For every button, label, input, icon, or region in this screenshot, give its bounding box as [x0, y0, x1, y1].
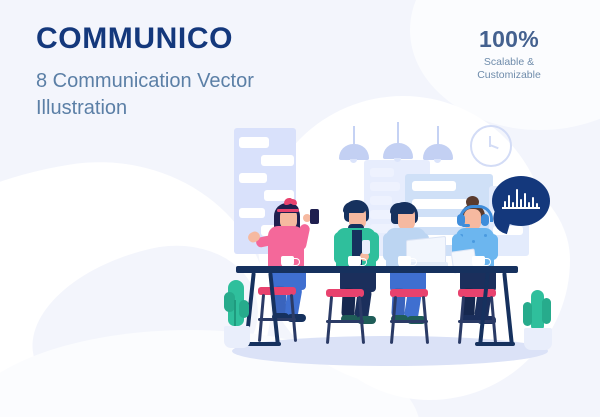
plant-pot-right — [524, 328, 552, 350]
table-top — [236, 266, 518, 273]
plant-pot-left — [224, 326, 250, 348]
voice-waveform-bubble — [492, 176, 550, 226]
wall-clock-icon — [470, 125, 512, 167]
smartphone — [310, 209, 319, 224]
illustration-canvas: COMMUNICO 8 Communication Vector Illustr… — [0, 0, 600, 417]
smartphone — [362, 240, 370, 254]
vector-illustration — [0, 0, 600, 417]
